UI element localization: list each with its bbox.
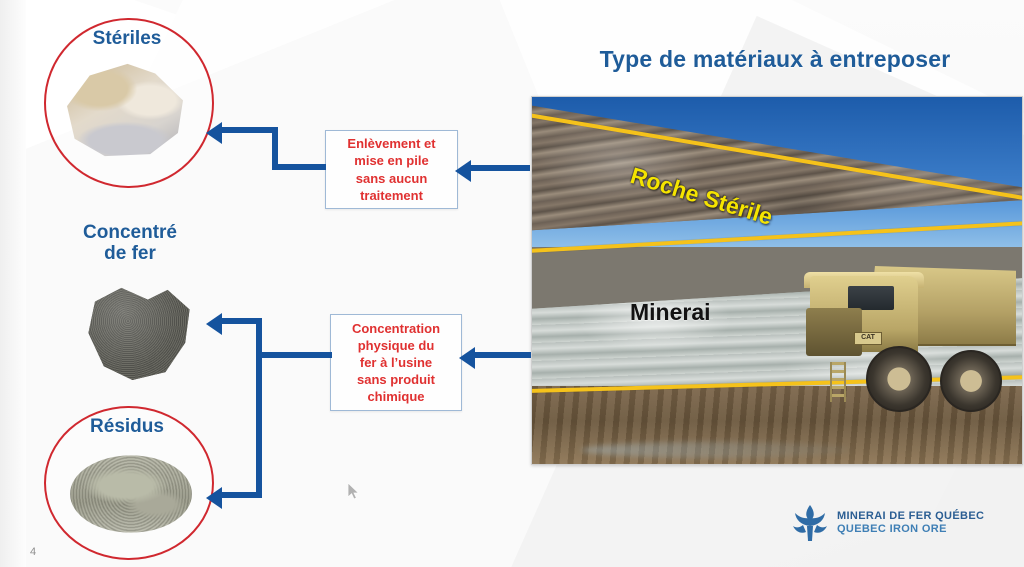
process-line: mise en pile (347, 152, 435, 169)
page-number: 4 (30, 546, 36, 558)
photo-ground-puddle (581, 442, 851, 458)
process-line: physique du (352, 337, 440, 354)
arrow-concentration-to-concentre-head (206, 313, 222, 335)
page-title: Type de matériaux à entreposer (530, 46, 1020, 73)
process-box-enlevement-text: Enlèvement et mise en pile sans aucun tr… (347, 135, 435, 204)
process-line: sans aucun (347, 170, 435, 187)
truck-ladder (830, 362, 846, 402)
arrow-photo-to-enlevement-head (455, 160, 471, 182)
process-box-enlevement: Enlèvement et mise en pile sans aucun tr… (325, 130, 458, 209)
arrow-enlevement-to-steriles-segment-a (272, 164, 326, 170)
process-box-concentration: Concentration physique du fer à l’usine … (330, 314, 462, 411)
company-logo: MINERAI DE FER QUÉBEC QUEBEC IRON ORE (792, 500, 1002, 546)
process-line: Concentration (352, 320, 440, 337)
sample-label-concentre-line1: Concentré (40, 222, 220, 243)
fleur-de-lis-leaf-icon (792, 504, 828, 542)
process-line: traitement (347, 187, 435, 204)
mouse-pointer-icon (348, 483, 362, 501)
arrow-photo-to-concentration-head (459, 347, 475, 369)
arrow-concentration-to-residus-segment (216, 492, 262, 498)
background-left-edge (0, 0, 26, 567)
arrow-photo-to-enlevement-shaft (465, 165, 530, 171)
truck-rear-wheel (940, 350, 1002, 412)
arrow-enlevement-to-steriles-head (206, 122, 222, 144)
mine-photo: CAT Roche Stérile Minerai (531, 96, 1023, 465)
sample-label-steriles: Stériles (44, 28, 210, 50)
logo-line-fr: MINERAI DE FER QUÉBEC (837, 510, 984, 523)
truck-window (848, 286, 894, 310)
photo-label-minerai: Minerai (630, 299, 711, 326)
sample-label-concentre-line2: de fer (40, 243, 220, 264)
arrow-enlevement-to-steriles-segment-b (272, 127, 278, 170)
slide-canvas: Type de matériaux à entreposer CAT Roche… (0, 0, 1024, 567)
arrow-concentration-to-concentre-segment (216, 318, 262, 324)
logo-line-en: QUEBEC IRON ORE (837, 523, 984, 536)
truck-brand-badge: CAT (854, 332, 882, 345)
arrow-enlevement-to-steriles-segment-c (216, 127, 278, 133)
logo-text: MINERAI DE FER QUÉBEC QUEBEC IRON ORE (837, 510, 984, 536)
sample-label-residus: Résidus (44, 416, 210, 438)
sample-label-concentre-de-fer: Concentré de fer (40, 222, 220, 265)
process-line: fer à l’usine (352, 354, 440, 371)
arrow-concentration-branch-stem (256, 352, 332, 358)
process-line: chimique (352, 388, 440, 405)
arrow-photo-to-concentration-shaft (469, 352, 531, 358)
truck-front-wheel (866, 346, 932, 412)
arrow-concentration-branch-riser (256, 318, 262, 498)
process-line: Enlèvement et (347, 135, 435, 152)
haul-truck: CAT (804, 258, 1016, 408)
arrow-concentration-to-residus-head (206, 487, 222, 509)
process-box-concentration-text: Concentration physique du fer à l’usine … (352, 320, 440, 406)
process-line: sans produit (352, 371, 440, 388)
